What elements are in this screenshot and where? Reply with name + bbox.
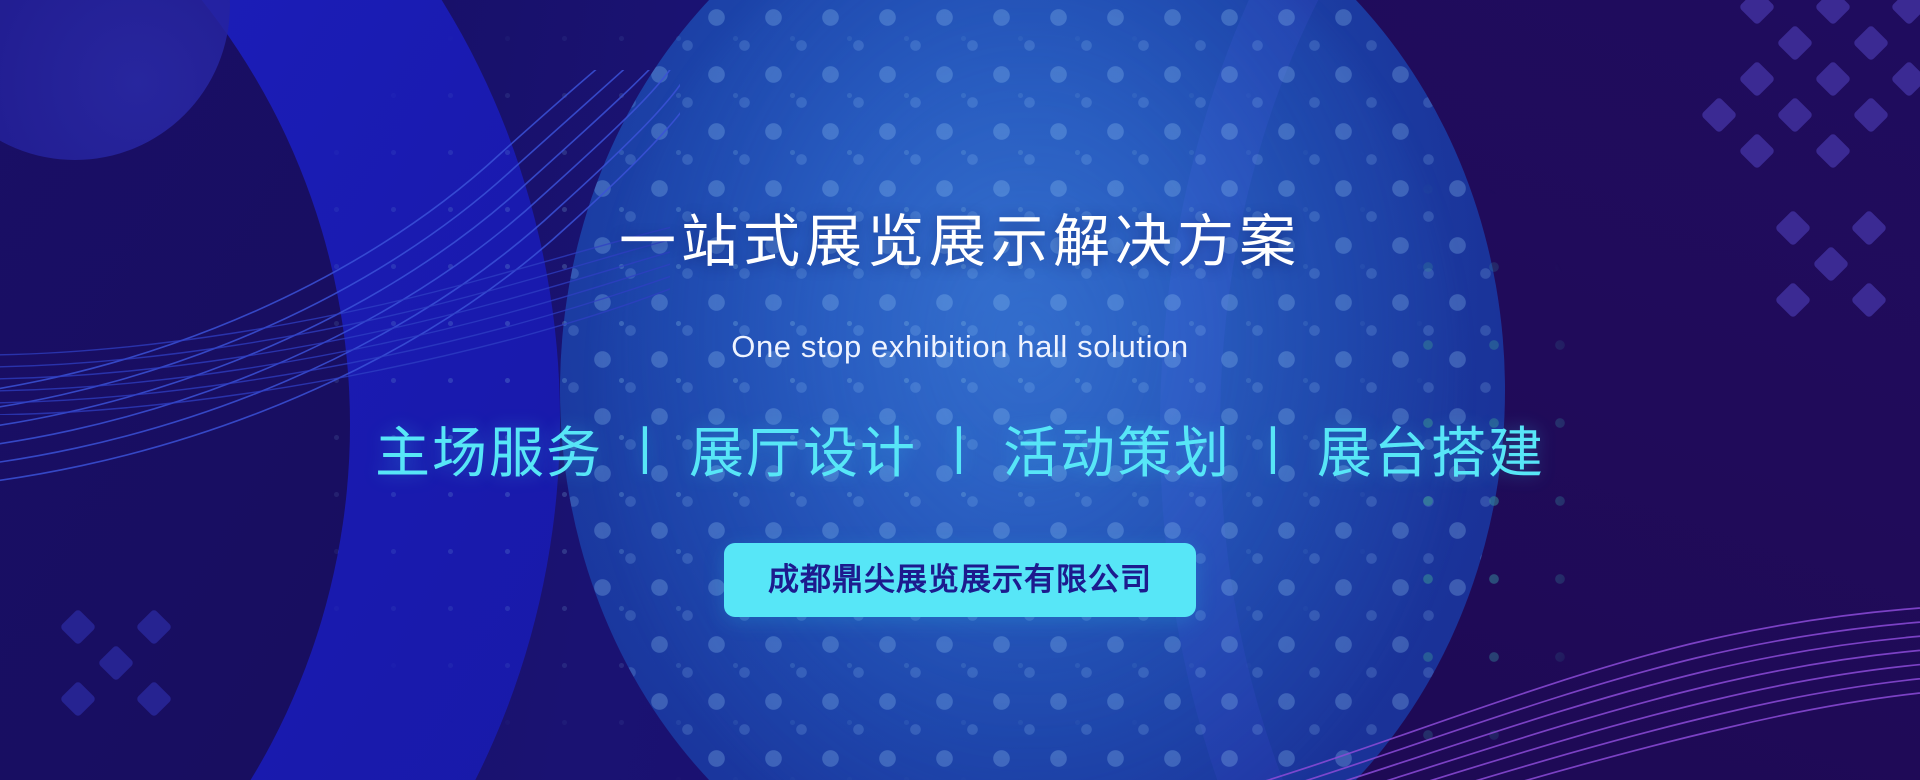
promo-banner: 一站式展览展示解决方案 One stop exhibition hall sol… — [0, 0, 1920, 780]
service-item-2: 活动策划 — [1003, 420, 1231, 486]
banner-content: 一站式展览展示解决方案 One stop exhibition hall sol… — [0, 0, 1920, 780]
service-separator-1: 丨 — [933, 422, 987, 484]
service-item-1: 展厅设计 — [689, 420, 917, 486]
company-cta-button[interactable]: 成都鼎尖展览展示有限公司 — [724, 543, 1196, 617]
service-separator-2: 丨 — [1247, 422, 1301, 484]
service-item-3: 展台搭建 — [1317, 420, 1545, 486]
banner-subtitle: One stop exhibition hall solution — [731, 331, 1189, 362]
service-list: 主场服务 丨 展厅设计 丨 活动策划 丨 展台搭建 — [375, 420, 1545, 486]
service-separator-0: 丨 — [619, 422, 673, 484]
banner-title: 一站式展览展示解决方案 — [619, 214, 1301, 271]
service-item-0: 主场服务 — [375, 420, 603, 486]
